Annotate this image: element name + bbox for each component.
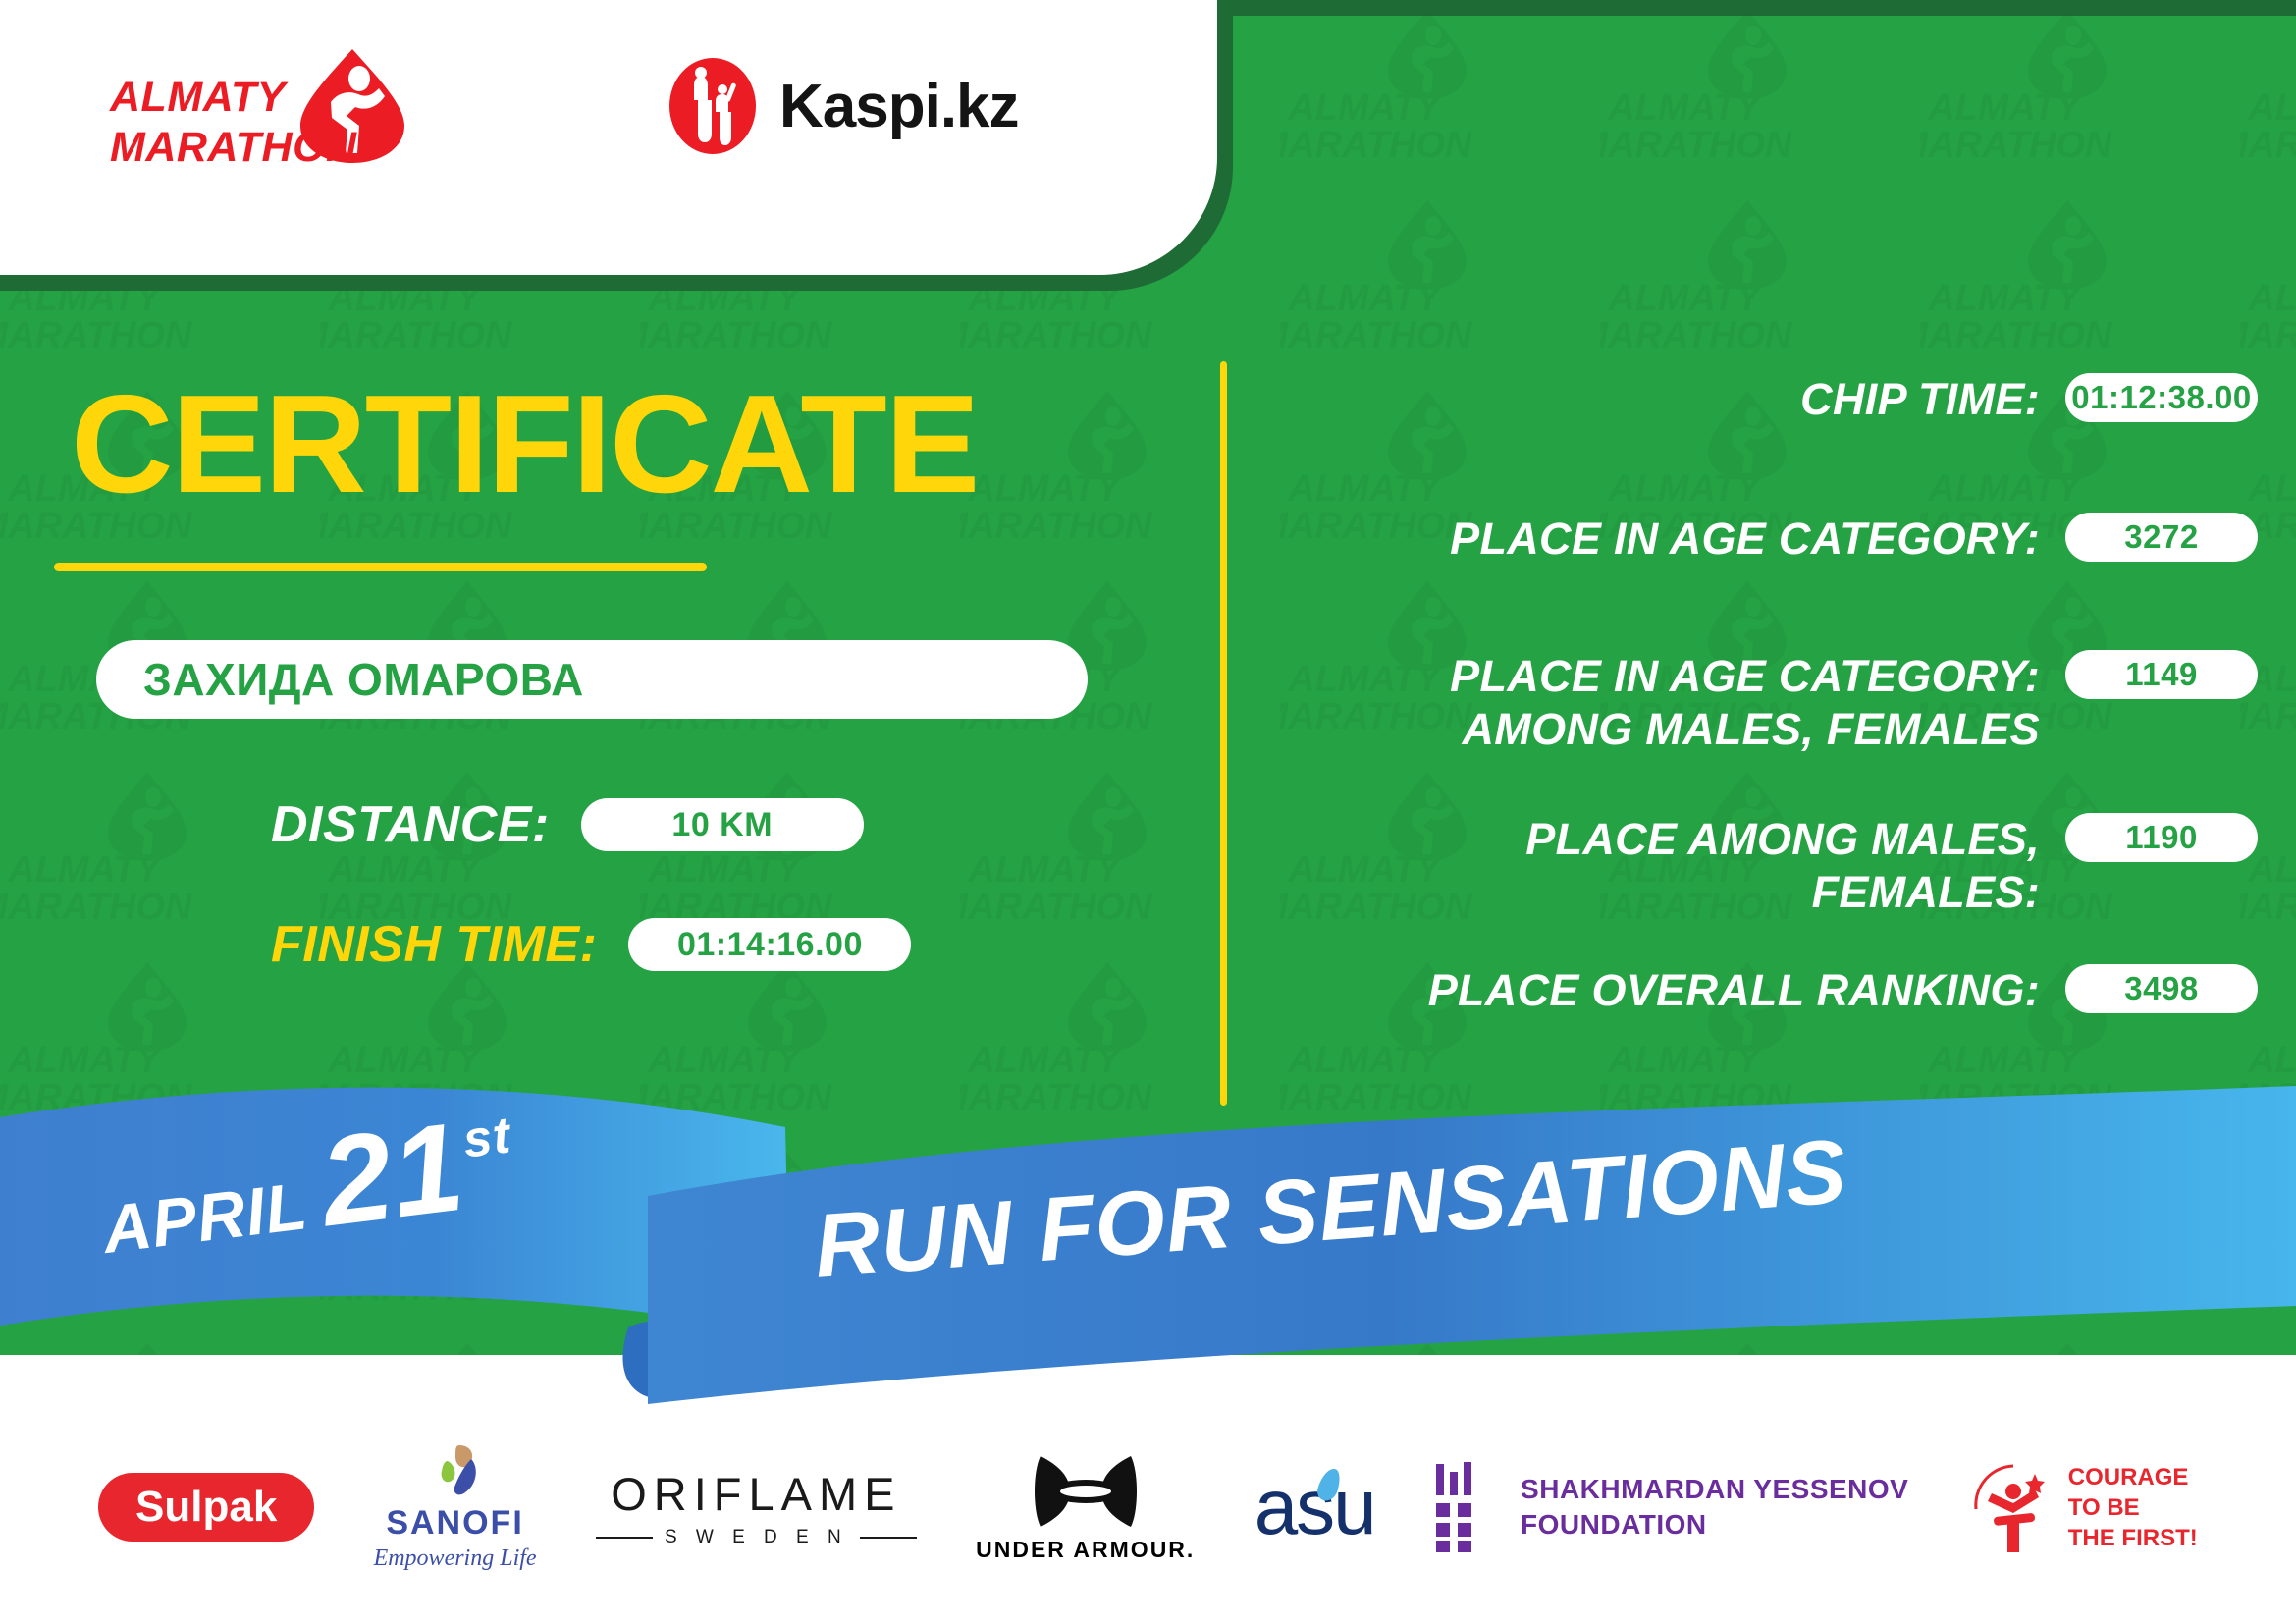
logo-line-1: ALMATY xyxy=(110,73,357,123)
sponsor-logo-yessenov: SHAKHMARDAN YESSENOV FOUNDATION xyxy=(1434,1462,1908,1552)
oriflame-rule-left xyxy=(596,1537,653,1539)
distance-row: DISTANCE: 10 KM xyxy=(271,795,864,854)
kaspi-people-icon xyxy=(667,57,758,155)
sponsor-logo-sulpak: Sulpak xyxy=(98,1473,314,1542)
sanofi-wordmark: SANOFI xyxy=(374,1504,537,1543)
oriflame-sub: S W E D E N xyxy=(596,1527,917,1548)
sponsor-logo-oriflame: ORIFLAME S W E D E N xyxy=(596,1467,917,1548)
stat-value-pill: 3272 xyxy=(2065,513,2258,562)
almaty-marathon-logo: ALMATY MARATHON xyxy=(110,47,424,185)
certificate-canvas: ALMATY MARATHON Kaspi.kz CERTIFICATE xyxy=(0,0,2296,1624)
sponsor-logo-courage: COURAGE TO BE THE FIRST! xyxy=(1968,1458,2198,1556)
stat-label: PLACE AMONG MALES, FEMALES: xyxy=(1525,813,2040,919)
distance-value: 10 KM xyxy=(671,806,773,844)
event-day-suffix: st xyxy=(460,1106,514,1169)
vertical-divider xyxy=(1220,361,1227,1106)
oriflame-wordmark: ORIFLAME xyxy=(596,1467,917,1521)
courage-runner-icon xyxy=(1968,1458,2058,1556)
almaty-marathon-wordmark: ALMATY MARATHON xyxy=(110,73,357,173)
stat-label: PLACE IN AGE CATEGORY: xyxy=(1450,513,2040,566)
sanofi-tagline: Empowering Life xyxy=(374,1545,537,1572)
kaspi-wordmark: Kaspi.kz xyxy=(779,72,1019,141)
stat-value: 3498 xyxy=(2124,970,2198,1007)
sponsor-logo-asu: asu xyxy=(1255,1462,1375,1552)
page-title: CERTIFICATE xyxy=(71,375,978,514)
under-armour-wordmark: UNDER ARMOUR. xyxy=(976,1537,1195,1563)
sponsors-bar: Sulpak SANOFI Empowering Life ORIFLAME xyxy=(0,1414,2296,1600)
yessenov-wordmark: SHAKHMARDAN YESSENOV FOUNDATION xyxy=(1521,1472,1908,1543)
stat-label: CHIP TIME: xyxy=(1800,373,2040,426)
stat-value-pill: 1149 xyxy=(2065,650,2258,699)
sponsor-logo-sanofi: SANOFI Empowering Life xyxy=(374,1443,537,1572)
courage-wordmark: COURAGE TO BE THE FIRST! xyxy=(2068,1462,2198,1553)
distance-label: DISTANCE: xyxy=(271,795,550,854)
oriflame-tagline: S W E D E N xyxy=(665,1527,848,1548)
kaspi-logo: Kaspi.kz xyxy=(667,57,1019,155)
finish-time-row: FINISH TIME: 01:14:16.00 xyxy=(271,915,911,974)
stat-value: 1149 xyxy=(2125,656,2198,693)
sulpak-wordmark: Sulpak xyxy=(135,1483,277,1532)
sulpak-badge: Sulpak xyxy=(98,1473,314,1542)
stat-value: 01:12:38.00 xyxy=(2071,379,2251,416)
event-day: 21 xyxy=(315,1110,469,1240)
finish-time-value: 01:14:16.00 xyxy=(677,926,863,964)
oriflame-rule-right xyxy=(860,1537,917,1539)
asu-text: asu xyxy=(1255,1463,1375,1550)
stat-value-pill: 01:12:38.00 xyxy=(2065,373,2258,422)
sponsor-logo-under-armour: UNDER ARMOUR. xyxy=(976,1452,1195,1563)
stat-value: 1190 xyxy=(2125,819,2198,856)
stat-label: PLACE IN AGE CATEGORY: AMONG MALES, FEMA… xyxy=(1450,650,2040,756)
distance-value-pill: 10 KM xyxy=(581,798,864,851)
finish-time-label: FINISH TIME: xyxy=(271,915,597,974)
stat-value: 3272 xyxy=(2124,518,2198,556)
logo-line-2: MARATHON xyxy=(110,123,357,173)
title-underline xyxy=(54,563,707,571)
sanofi-mark-icon xyxy=(426,1443,485,1500)
participant-name-value: ЗАХИДА ОМАРОВА xyxy=(143,653,584,706)
stat-row: PLACE IN AGE CATEGORY: AMONG MALES, FEMA… xyxy=(1266,650,2258,756)
stat-value-pill: 1190 xyxy=(2065,813,2258,862)
stat-value-pill: 3498 xyxy=(2065,964,2258,1013)
stat-row: CHIP TIME: 01:12:38.00 xyxy=(1266,373,2258,426)
stat-row: PLACE AMONG MALES, FEMALES: 1190 xyxy=(1266,813,2258,919)
header-logos: ALMATY MARATHON Kaspi.kz xyxy=(0,0,1178,245)
participant-name-field: ЗАХИДА ОМАРОВА xyxy=(96,640,1088,719)
yessenov-mark-icon xyxy=(1434,1462,1495,1552)
stat-row: PLACE OVERALL RANKING: 3498 xyxy=(1266,964,2258,1017)
stat-label: PLACE OVERALL RANKING: xyxy=(1428,964,2040,1017)
stat-row: PLACE IN AGE CATEGORY: 3272 xyxy=(1266,513,2258,566)
under-armour-mark-icon xyxy=(1027,1452,1145,1531)
finish-time-value-pill: 01:14:16.00 xyxy=(628,918,911,971)
asu-wordmark: asu xyxy=(1255,1462,1375,1552)
